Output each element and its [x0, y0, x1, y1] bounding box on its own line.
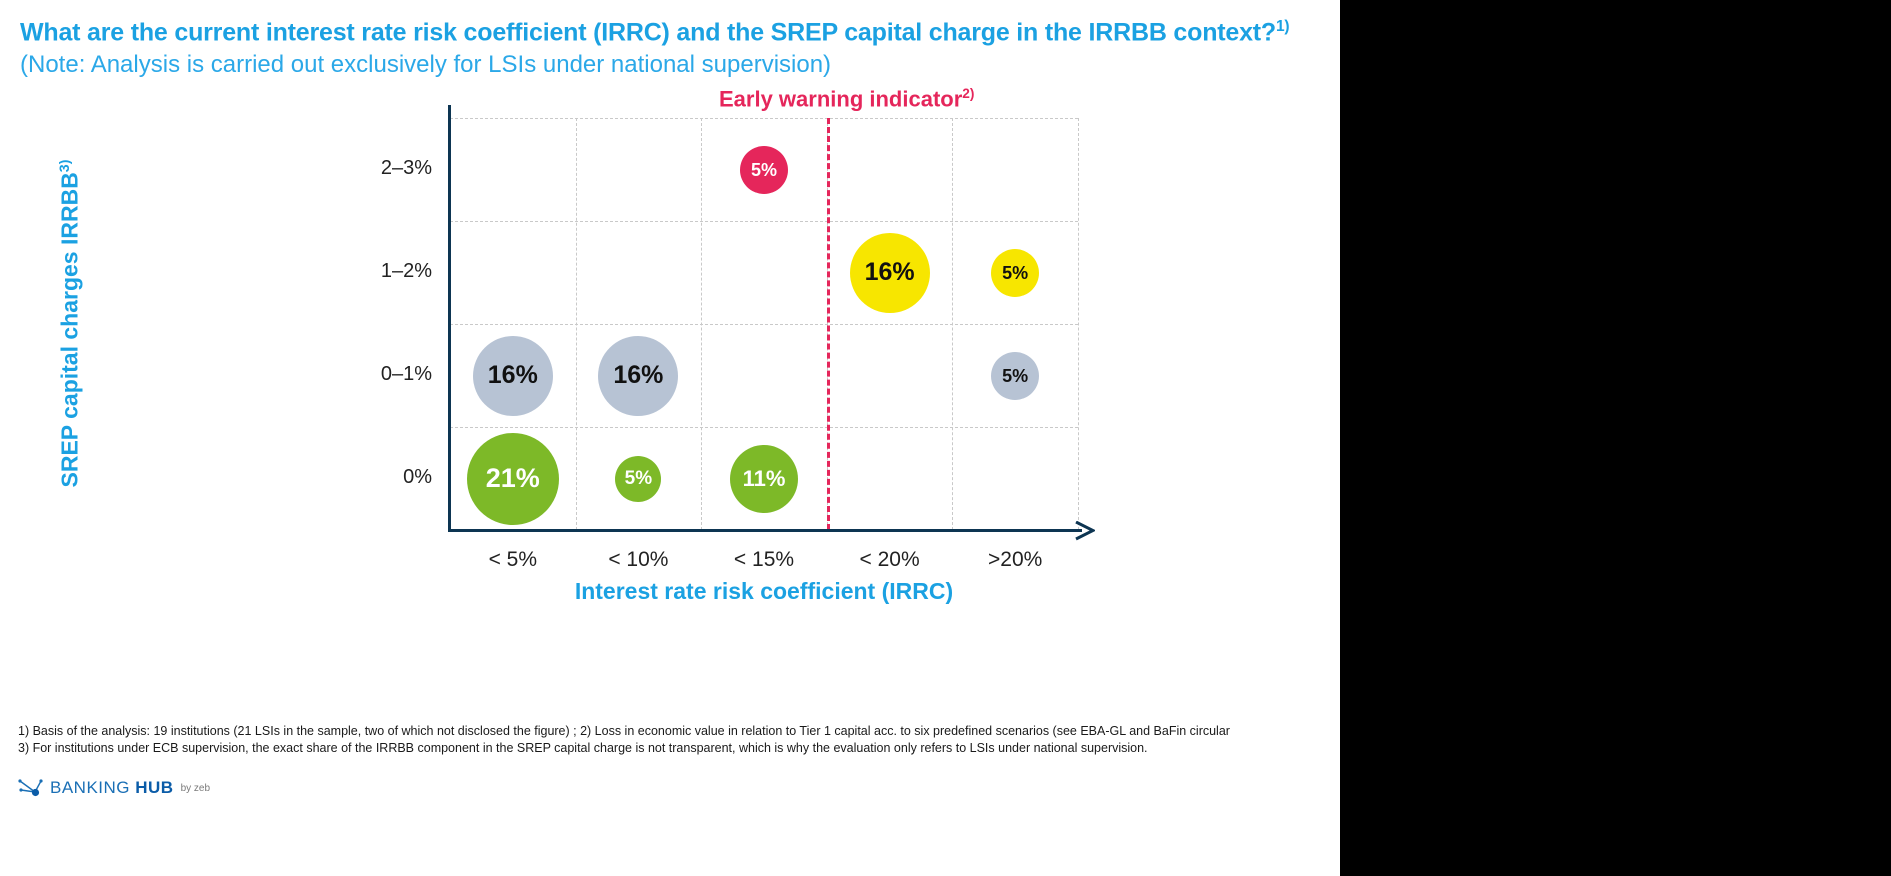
gridline-vertical	[701, 118, 702, 530]
bubble-data-point[interactable]: 16%	[473, 336, 553, 416]
y-axis-title: SREP capital charges IRRBB3)	[57, 124, 84, 524]
bubble-data-point[interactable]: 16%	[598, 336, 678, 416]
logo-wordmark-light: BANKING	[50, 778, 135, 797]
gridline-vertical	[576, 118, 577, 530]
gridline-horizontal	[450, 427, 1078, 428]
early-warning-threshold-line	[827, 118, 830, 530]
footnote-line-1: 1) Basis of the analysis: 19 institution…	[18, 723, 1230, 740]
bubble-data-point[interactable]: 11%	[730, 445, 798, 513]
bubble-data-point[interactable]: 5%	[740, 146, 788, 194]
footnotes: 1) Basis of the analysis: 19 institution…	[18, 723, 1230, 757]
gridline-vertical	[952, 118, 953, 530]
bubble-data-point[interactable]: 5%	[991, 352, 1039, 400]
bubble-data-point[interactable]: 5%	[615, 456, 661, 502]
y-axis-tick-label: 0–1%	[312, 363, 432, 386]
banking-hub-mark-icon	[18, 778, 44, 798]
bubble-chart: 21%5%11%16%16%5%16%5%5% 0%0–1%1–2%2–3% <…	[0, 0, 1340, 660]
y-axis-footnote-marker: 3)	[57, 160, 73, 173]
black-letterbox-right	[1340, 0, 1891, 876]
footnote-line-2: 3) For institutions under ECB supervisio…	[18, 740, 1230, 757]
x-axis-tick-label: >20%	[935, 548, 1095, 572]
y-axis-tick-label: 1–2%	[312, 260, 432, 283]
y-axis-tick-label: 0%	[312, 466, 432, 489]
y-axis-tick-label: 2–3%	[312, 157, 432, 180]
logo-byline: by zeb	[181, 783, 210, 794]
gridline-horizontal	[450, 118, 1078, 119]
bubble-data-point[interactable]: 16%	[850, 233, 930, 313]
y-axis-line	[448, 105, 451, 530]
logo-wordmark-bold: HUB	[135, 778, 173, 797]
x-axis-arrow-icon	[1075, 521, 1095, 541]
slide-footer: 1) Basis of the analysis: 19 institution…	[0, 716, 1340, 876]
plot-area: 21%5%11%16%16%5%16%5%5%	[450, 118, 1078, 530]
slide-canvas: What are the current interest rate risk …	[0, 0, 1340, 716]
x-axis-line	[448, 529, 1082, 532]
logo-wordmark: BANKING HUB	[50, 778, 174, 798]
y-axis-title-text: SREP capital charges IRRBB	[57, 172, 83, 487]
x-axis-title: Interest rate risk coefficient (IRRC)	[450, 578, 1078, 605]
bubble-data-point[interactable]: 21%	[467, 433, 559, 525]
banking-hub-logo[interactable]: BANKING HUB by zeb	[18, 778, 210, 798]
gridline-horizontal	[450, 221, 1078, 222]
bubble-data-point[interactable]: 5%	[991, 249, 1039, 297]
gridline-horizontal	[450, 324, 1078, 325]
gridline-vertical-right-edge	[1078, 118, 1079, 530]
